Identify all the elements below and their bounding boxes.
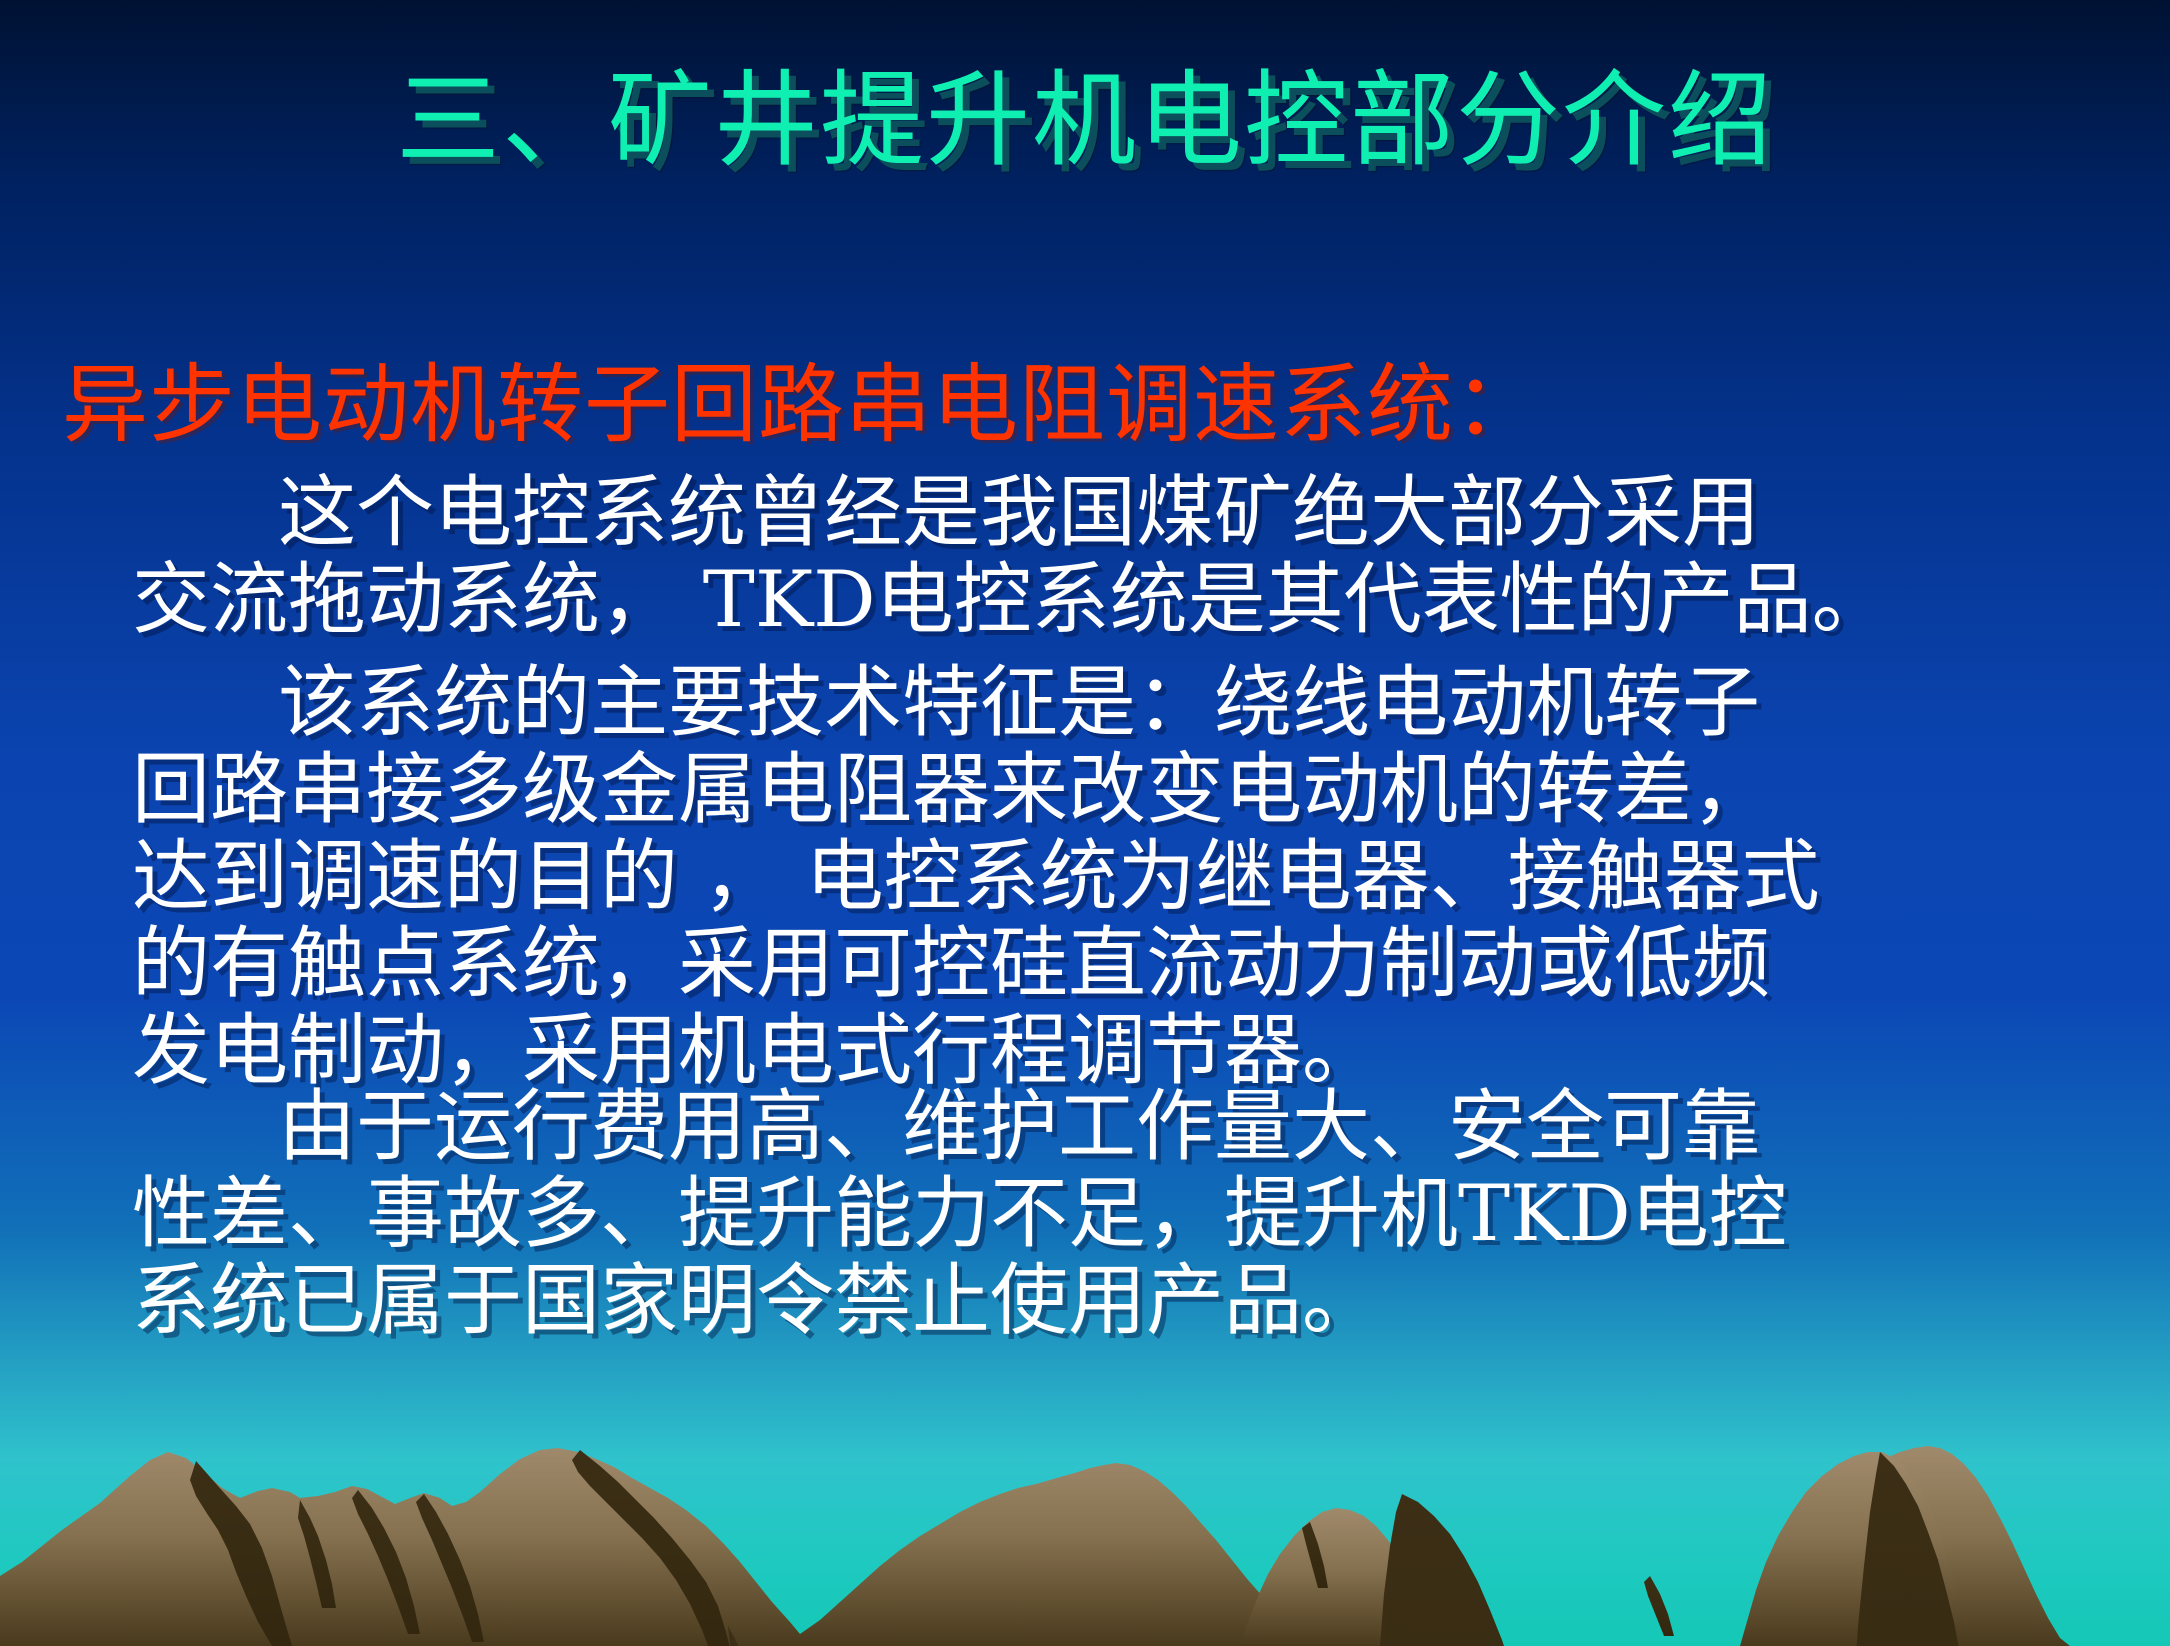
paragraph-3-line-1: 由于运行费用高、维护工作量大、安全可靠	[132, 1084, 2062, 1171]
paragraph-3: 由于运行费用高、维护工作量大、安全可靠 性差、事故多、提升能力不足，提升机TKD…	[132, 1084, 2062, 1345]
slide-title: 三、矿井提升机电控部分介绍	[0, 62, 2170, 178]
paragraph-2-line-1: 该系统的主要技术特征是：绕线电动机转子	[132, 660, 2062, 747]
paragraph-2-line-4: 的有触点系统，采用可控硅直流动力制动或低频	[132, 921, 2062, 1008]
paragraph-3-line-3: 系统已属于国家明令禁止使用产品。	[132, 1258, 2062, 1345]
paragraph-1-line-1: 这个电控系统曾经是我国煤矿绝大部分采用	[132, 470, 2062, 557]
presentation-slide: 三、矿井提升机电控部分介绍 异步电动机转子回路串电阻调速系统： 这个电控系统曾经…	[0, 0, 2170, 1646]
slide-content: 三、矿井提升机电控部分介绍 异步电动机转子回路串电阻调速系统： 这个电控系统曾经…	[0, 0, 2170, 1646]
paragraph-2: 该系统的主要技术特征是：绕线电动机转子 回路串接多级金属电阻器来改变电动机的转差…	[132, 660, 2062, 1095]
paragraph-2-line-3: 达到调速的目的 ， 电控系统为继电器、接触器式	[132, 834, 2062, 921]
paragraph-3-line-2: 性差、事故多、提升能力不足，提升机TKD电控	[132, 1171, 2062, 1258]
paragraph-1-line-2: 交流拖动系统， TKD电控系统是其代表性的产品。	[132, 557, 2062, 644]
paragraph-1: 这个电控系统曾经是我国煤矿绝大部分采用 交流拖动系统， TKD电控系统是其代表性…	[132, 470, 2062, 644]
paragraph-2-line-2: 回路串接多级金属电阻器来改变电动机的转差，	[132, 747, 2062, 834]
slide-subheading: 异步电动机转子回路串电阻调速系统：	[62, 358, 1541, 453]
